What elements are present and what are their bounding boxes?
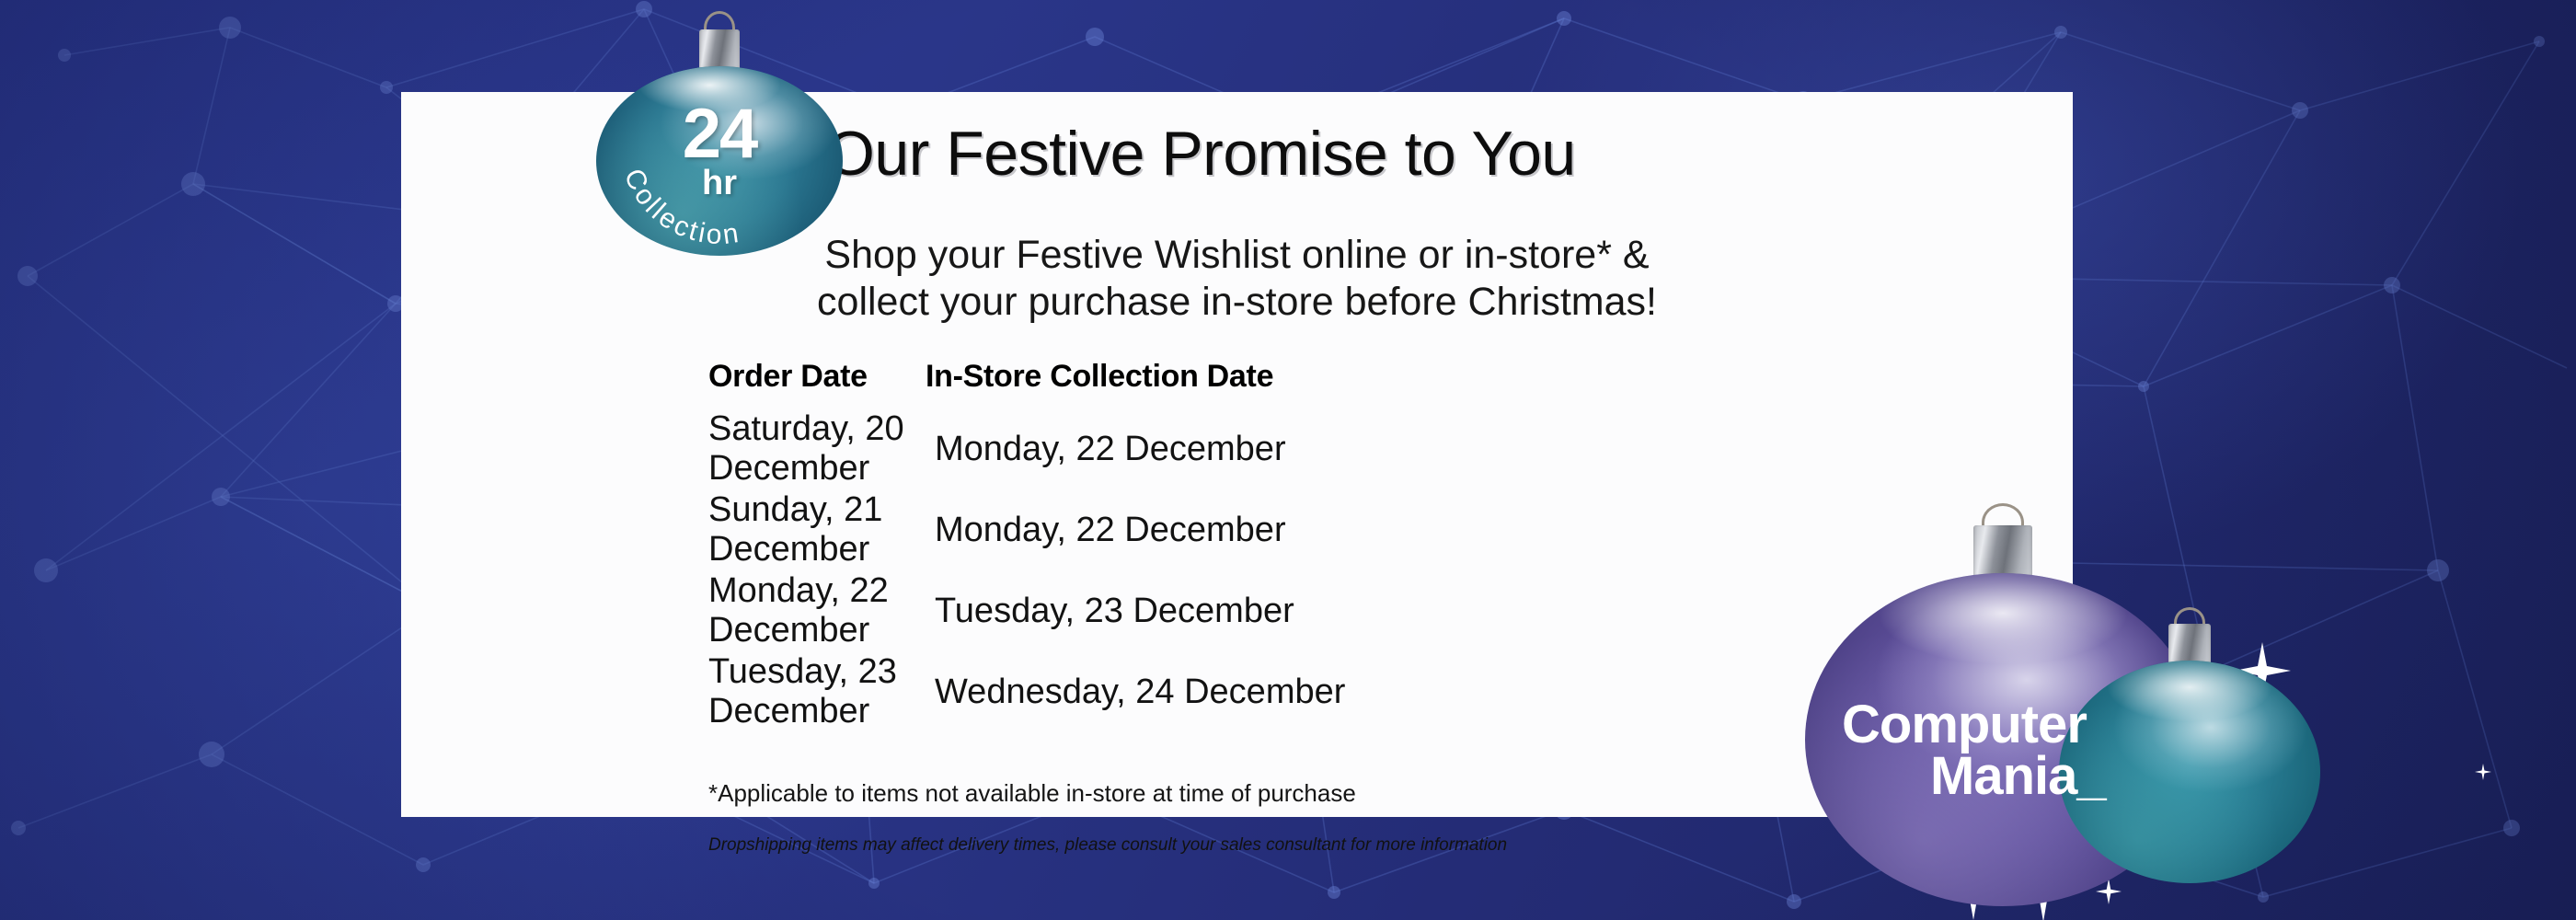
badge-arc-label: Collection [596,9,843,256]
logo-cursor-icon: _ [2076,751,2105,802]
computer-mania-logo: Computer Mania_ [1831,699,2106,801]
svg-text:Collection: Collection [618,165,743,250]
fine-print: Dropshipping items may affect delivery t… [708,835,1507,856]
cell-order-date: Saturday, 20 December [401,415,926,483]
column-header-collection-date: In-Store Collection Date [926,359,2073,395]
logo-line-1: Computer [1831,699,2106,751]
table-row: Saturday, 20 December Monday, 22 Decembe… [401,415,2073,483]
column-header-order-date: Order Date [401,359,926,395]
logo-line-2: Mania_ [1831,751,2106,802]
asterisk-note: *Applicable to items not available in-st… [708,779,1356,808]
page-title: Our Festive Promise to You [826,118,1576,190]
table-header-row: Order Date In-Store Collection Date [401,359,2073,395]
festive-promise-banner: Our Festive Promise to You Shop your Fes… [0,0,2576,920]
badge-arc-text: Collection [618,165,743,250]
cell-order-date: Sunday, 21 December [401,496,926,564]
cell-order-date: Tuesday, 23 December [401,658,926,726]
logo-line-2-text: Mania [1930,746,2076,806]
24hr-collection-badge-ornament: 24 hr Collection [596,9,843,256]
subtitle-line-2: collect your purchase in-store before Ch… [401,279,2073,326]
cell-collection-date: Monday, 22 December [926,415,2073,483]
cell-order-date: Monday, 22 December [401,577,926,645]
